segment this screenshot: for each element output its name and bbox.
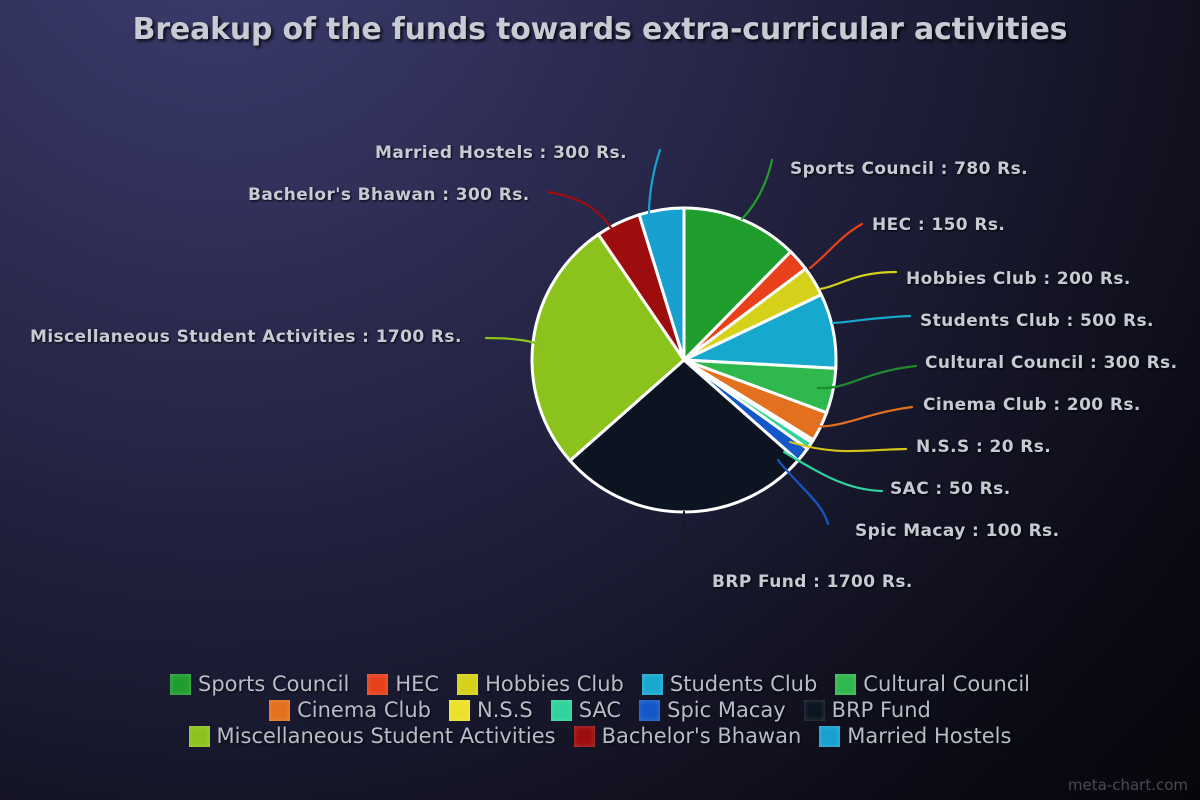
legend-swatch-icon <box>457 674 478 695</box>
legend-label: Cinema Club <box>297 698 431 722</box>
legend-swatch-icon <box>449 700 470 721</box>
callout-label-sports-council: Sports Council : 780 Rs. <box>790 159 1028 179</box>
leader-hobbies-club <box>820 272 896 289</box>
callout-label-cultural-council: Cultural Council : 300 Rs. <box>925 353 1177 373</box>
pie-slices <box>532 208 836 512</box>
leader-students-club <box>833 316 910 323</box>
legend-item-sac[interactable]: SAC <box>551 698 621 722</box>
leader-sports-council <box>742 160 772 219</box>
legend-row: Cinema ClubN.S.SSACSpic MacayBRP Fund <box>260 698 940 722</box>
callout-label-nss: N.S.S : 20 Rs. <box>916 437 1051 457</box>
legend-label: Spic Macay <box>667 698 786 722</box>
legend-label: BRP Fund <box>832 698 931 722</box>
legend-swatch-icon <box>551 700 572 721</box>
watermark: meta-chart.com <box>1068 776 1188 794</box>
legend-row: Miscellaneous Student ActivitiesBachelor… <box>180 724 1021 748</box>
legend-item-hec[interactable]: HEC <box>367 672 439 696</box>
legend-item-married-hostels[interactable]: Married Hostels <box>819 724 1011 748</box>
legend-swatch-icon <box>170 674 191 695</box>
leader-bachelors-bhawan <box>548 192 612 229</box>
legend-swatch-icon <box>804 700 825 721</box>
legend-item-bachelor-s-bhawan[interactable]: Bachelor's Bhawan <box>574 724 802 748</box>
leader-spic-macay <box>778 460 828 524</box>
leader-married-hostels <box>649 150 660 213</box>
leader-brp-fund <box>684 512 702 578</box>
leader-hec <box>810 224 862 268</box>
chart-legend: Sports CouncilHECHobbies ClubStudents Cl… <box>0 672 1200 748</box>
callout-label-married-hostels: Married Hostels : 300 Rs. <box>375 143 627 163</box>
legend-swatch-icon <box>642 674 663 695</box>
legend-item-students-club[interactable]: Students Club <box>642 672 817 696</box>
legend-item-n-s-s[interactable]: N.S.S <box>449 698 533 722</box>
legend-label: Hobbies Club <box>485 672 624 696</box>
legend-label: Cultural Council <box>863 672 1030 696</box>
legend-label: Miscellaneous Student Activities <box>217 724 556 748</box>
legend-label: Married Hostels <box>847 724 1011 748</box>
legend-item-brp-fund[interactable]: BRP Fund <box>804 698 931 722</box>
legend-row: Sports CouncilHECHobbies ClubStudents Cl… <box>161 672 1039 696</box>
legend-swatch-icon <box>189 726 210 747</box>
legend-item-cultural-council[interactable]: Cultural Council <box>835 672 1030 696</box>
legend-item-spic-macay[interactable]: Spic Macay <box>639 698 786 722</box>
legend-label: Sports Council <box>198 672 349 696</box>
legend-swatch-icon <box>835 674 856 695</box>
callout-label-students-club: Students Club : 500 Rs. <box>920 311 1154 331</box>
callout-label-spic-macay: Spic Macay : 100 Rs. <box>855 521 1059 541</box>
callout-label-sac: SAC : 50 Rs. <box>890 479 1011 499</box>
legend-swatch-icon <box>819 726 840 747</box>
callout-label-bachelors-bhawan: Bachelor's Bhawan : 300 Rs. <box>248 185 530 205</box>
legend-item-cinema-club[interactable]: Cinema Club <box>269 698 431 722</box>
legend-label: N.S.S <box>477 698 533 722</box>
legend-label: HEC <box>395 672 439 696</box>
legend-swatch-icon <box>367 674 388 695</box>
legend-item-sports-council[interactable]: Sports Council <box>170 672 349 696</box>
legend-label: Bachelor's Bhawan <box>602 724 802 748</box>
legend-item-miscellaneous-student-activities[interactable]: Miscellaneous Student Activities <box>189 724 556 748</box>
callout-label-misc-student: Miscellaneous Student Activities : 1700 … <box>30 327 462 347</box>
callout-label-brp-fund: BRP Fund : 1700 Rs. <box>712 572 913 592</box>
pie-chart-figure: Breakup of the funds towards extra-curri… <box>0 0 1200 800</box>
legend-swatch-icon <box>574 726 595 747</box>
callout-label-cinema-club: Cinema Club : 200 Rs. <box>923 395 1141 415</box>
legend-swatch-icon <box>639 700 660 721</box>
legend-label: SAC <box>579 698 621 722</box>
callout-label-hec: HEC : 150 Rs. <box>872 215 1005 235</box>
legend-label: Students Club <box>670 672 817 696</box>
legend-item-hobbies-club[interactable]: Hobbies Club <box>457 672 624 696</box>
callout-label-hobbies-club: Hobbies Club : 200 Rs. <box>906 269 1131 289</box>
legend-swatch-icon <box>269 700 290 721</box>
